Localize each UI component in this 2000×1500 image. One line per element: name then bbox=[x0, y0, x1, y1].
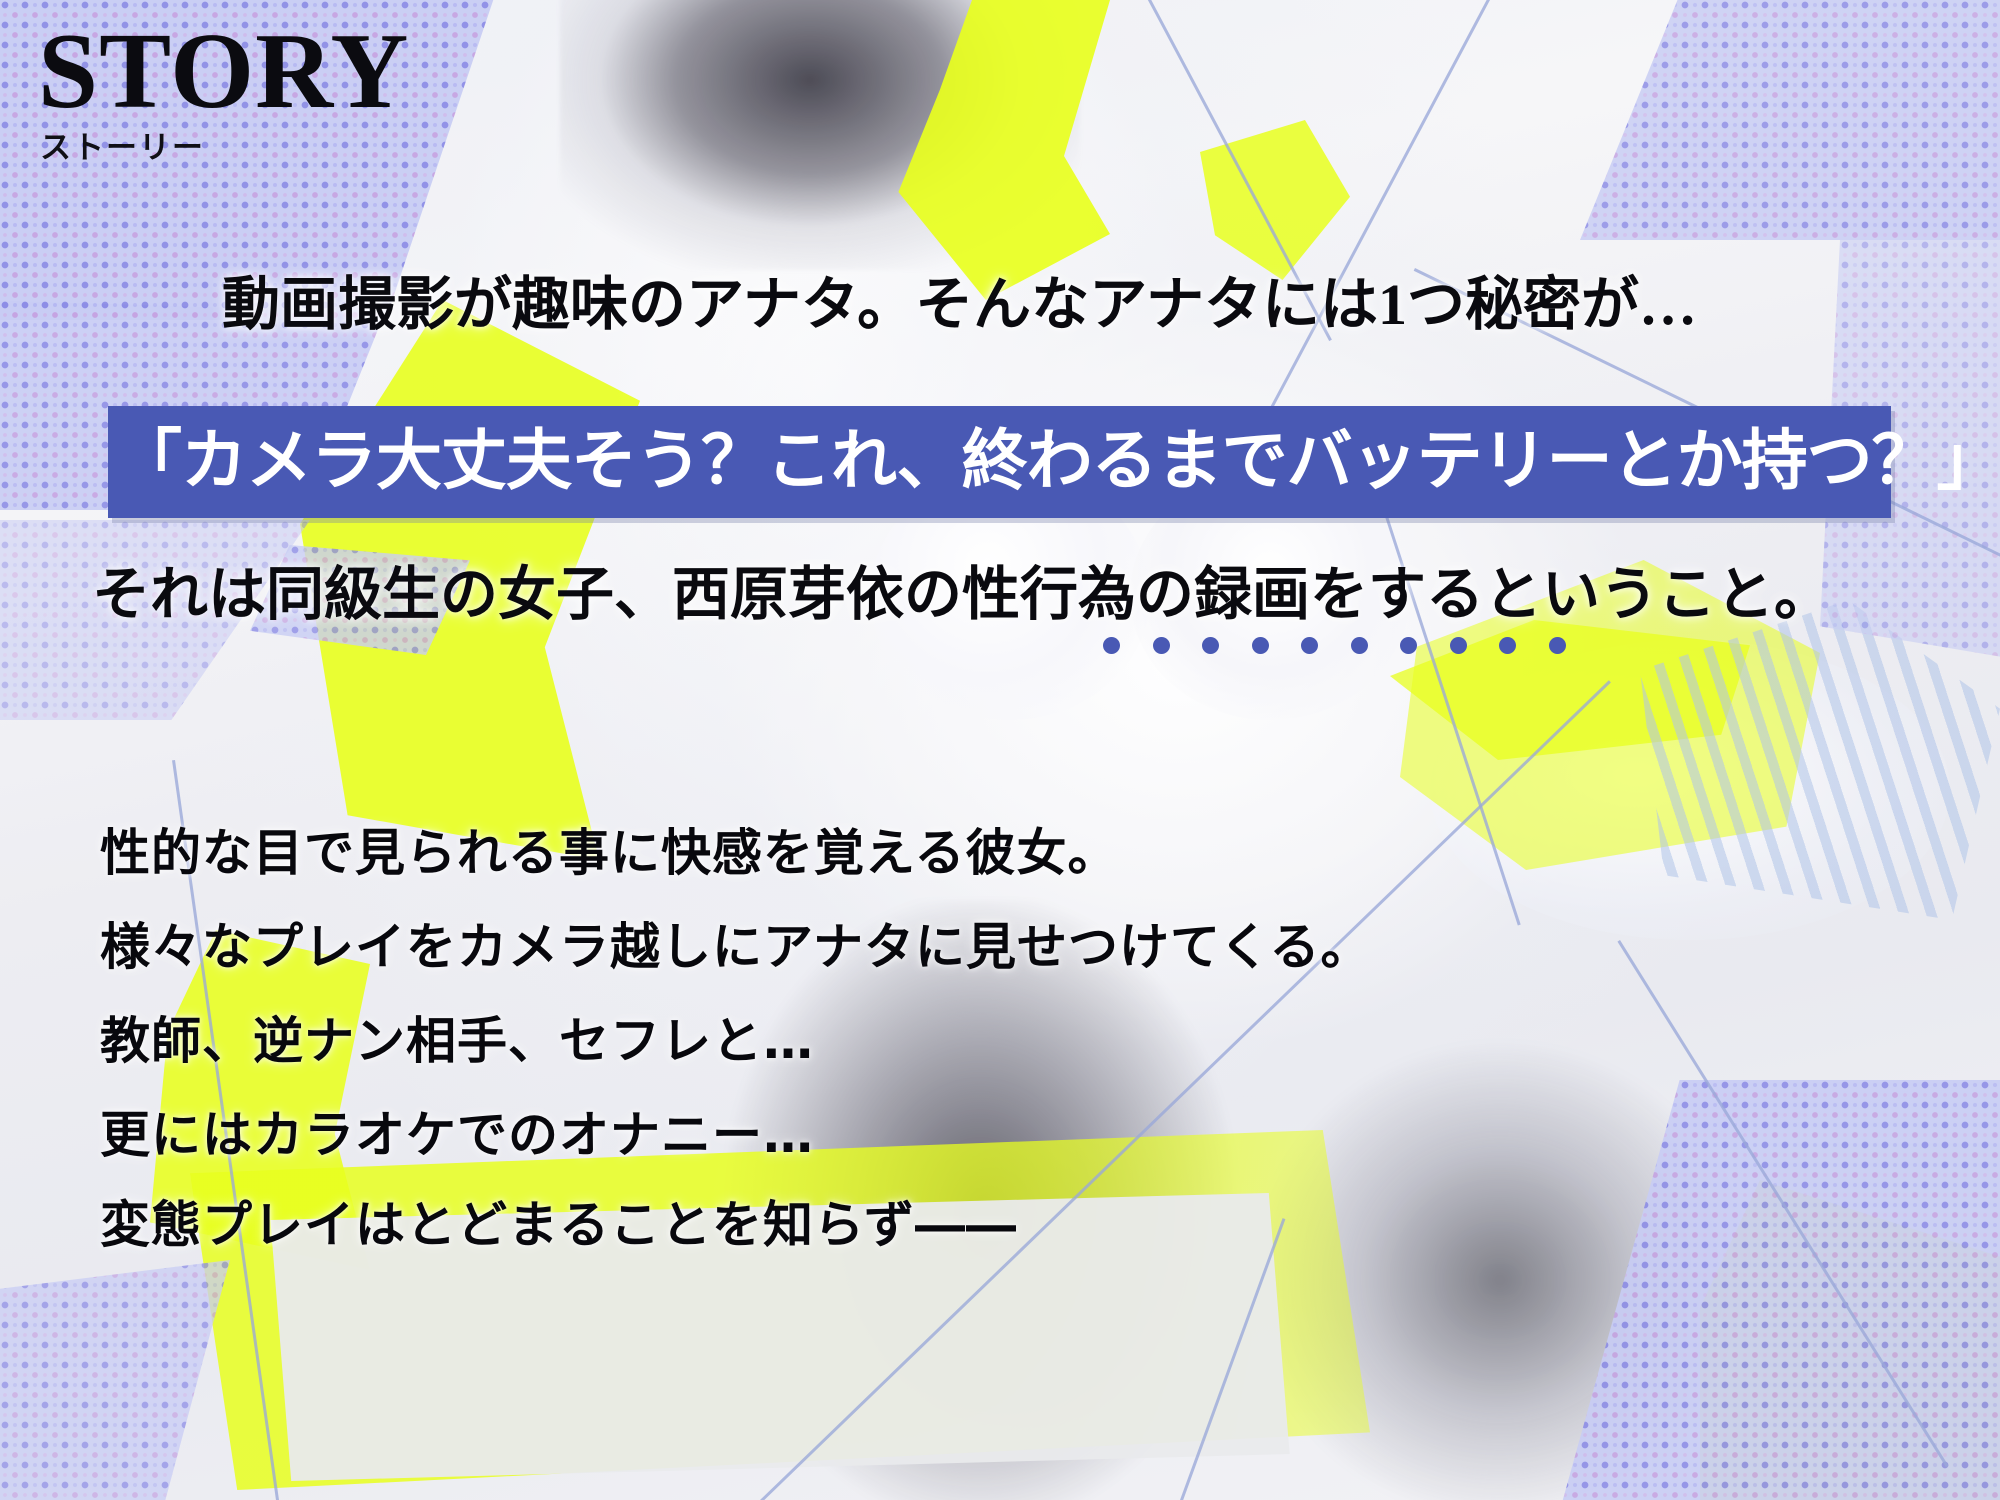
emphasis-dot bbox=[1202, 637, 1219, 654]
emphasis-dot bbox=[1450, 637, 1467, 654]
emphasis-dot bbox=[1252, 637, 1269, 654]
emphasis-dot bbox=[1103, 637, 1120, 654]
lead-line: 動画撮影が趣味のアナタ。そんなアナタには1つ秘密が… bbox=[222, 276, 1697, 334]
emphasis-dot bbox=[1400, 637, 1417, 654]
paragraph-line-2: 様々なプレイをカメラ越しにアナタに見せつけてくる。 bbox=[100, 922, 1372, 972]
emphasis-dot bbox=[1351, 637, 1368, 654]
paragraph-line-1: 性的な目で見られる事に快感を覚える彼女。 bbox=[100, 828, 1119, 878]
page-title: STORY bbox=[38, 18, 409, 126]
emphasis-dots bbox=[1103, 637, 1566, 654]
page-title-kana: ストーリー bbox=[40, 132, 205, 163]
emphasis-dot bbox=[1499, 637, 1516, 654]
story-content: STORY ストーリー 動画撮影が趣味のアナタ。そんなアナタには1つ秘密が… 「… bbox=[0, 0, 2000, 1500]
story-panel: STORY ストーリー 動画撮影が趣味のアナタ。そんなアナタには1つ秘密が… 「… bbox=[0, 0, 2000, 1500]
emphasis-dot bbox=[1153, 637, 1170, 654]
premise-line: それは同級生の女子、西原芽依の性行為の録画をするということ。 bbox=[92, 566, 1832, 624]
emphasis-dot bbox=[1301, 637, 1318, 654]
paragraph-line-3: 教師、逆ナン相手、セフレと… bbox=[100, 1016, 814, 1066]
paragraph-line-5: 変態プレイはとどまることを知らず―― bbox=[100, 1200, 1017, 1250]
emphasis-dot bbox=[1549, 637, 1566, 654]
quote-line: 「カメラ大丈夫そう？これ、終わるまでバッテリーとか持つ？」 bbox=[116, 414, 1906, 510]
paragraph-line-4: 更にはカラオケでのオナニー… bbox=[100, 1110, 814, 1160]
